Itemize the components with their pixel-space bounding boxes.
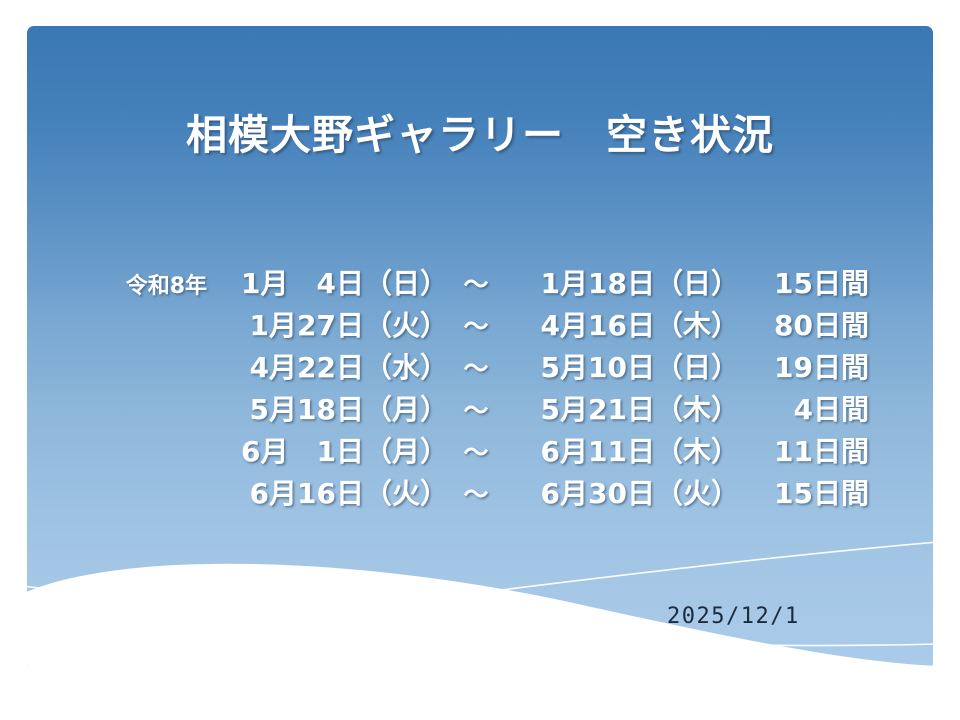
table-row: 6月 1日（月） ～ 6月11日（木） 11日間: [27, 430, 933, 472]
row-range-tilde: ～: [448, 391, 504, 427]
row-start-date: 1月27日（火）: [213, 304, 448, 344]
slide-footer-date: 2025/12/1: [667, 604, 867, 629]
row-range-tilde: ～: [448, 433, 504, 469]
availability-schedule-list: 令和8年 1月 4日（日） ～ 1月18日（日） 15日間 1月27日（火） ～…: [27, 262, 933, 514]
row-range-tilde: ～: [448, 307, 504, 343]
row-end-date: 1月18日（日）: [504, 262, 739, 302]
row-end-date: 5月10日（日）: [504, 346, 739, 386]
row-range-tilde: ～: [448, 475, 504, 511]
row-day-count: 19日間: [739, 346, 869, 386]
row-day-count: 11日間: [739, 430, 869, 470]
row-day-count: 4日間: [739, 388, 869, 428]
table-row: 5月18日（月） ～ 5月21日（木） 4日間: [27, 388, 933, 430]
row-range-tilde: ～: [448, 349, 504, 385]
row-end-date: 5月21日（木）: [504, 388, 739, 428]
row-day-count: 15日間: [739, 262, 869, 302]
table-row: 4月22日（水） ～ 5月10日（日） 19日間: [27, 346, 933, 388]
row-era-label: 令和8年: [27, 268, 213, 300]
row-end-date: 4月16日（木）: [504, 304, 739, 344]
row-day-count: 15日間: [739, 472, 869, 512]
row-end-date: 6月11日（木）: [504, 430, 739, 470]
row-start-date: 6月16日（火）: [213, 472, 448, 512]
presentation-slide: 相模大野ギャラリー 空き状況 令和8年 1月 4日（日） ～ 1月18日（日） …: [27, 26, 933, 670]
slide-canvas: 相模大野ギャラリー 空き状況 令和8年 1月 4日（日） ～ 1月18日（日） …: [0, 0, 960, 720]
row-start-date: 4月22日（水）: [213, 346, 448, 386]
row-start-date: 1月 4日（日）: [213, 262, 448, 302]
table-row: 6月16日（火） ～ 6月30日（火） 15日間: [27, 472, 933, 514]
row-start-date: 6月 1日（月）: [213, 430, 448, 470]
row-end-date: 6月30日（火）: [504, 472, 739, 512]
table-row: 1月27日（火） ～ 4月16日（木） 80日間: [27, 304, 933, 346]
row-range-tilde: ～: [448, 265, 504, 301]
table-row: 令和8年 1月 4日（日） ～ 1月18日（日） 15日間: [27, 262, 933, 304]
row-day-count: 80日間: [739, 304, 869, 344]
row-start-date: 5月18日（月）: [213, 388, 448, 428]
